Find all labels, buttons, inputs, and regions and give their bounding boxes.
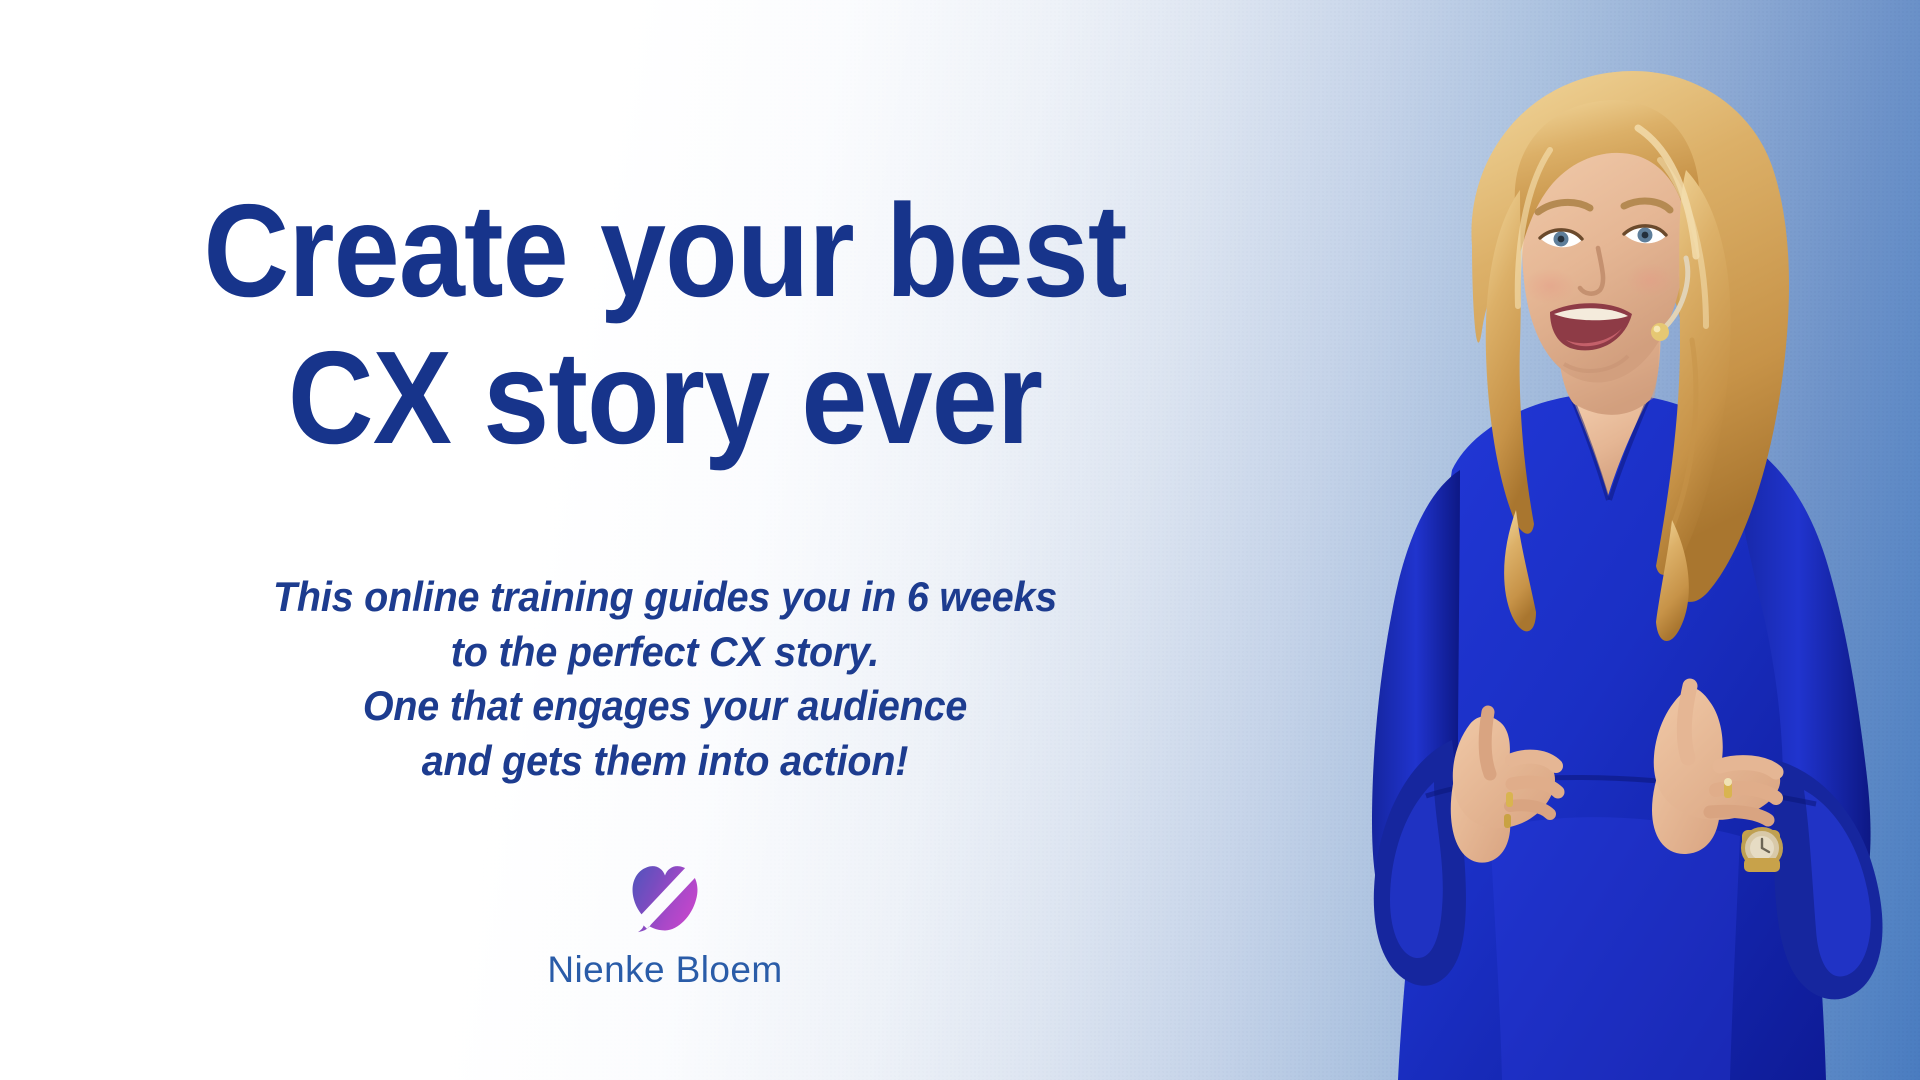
heart-speech-bubble-logo [624,855,706,937]
brand-lockup: Nienke Bloem [0,855,1330,988]
subtitle-text: This online training guides you in 6 wee… [40,570,1290,788]
page-title: Create your best CX story ever [67,178,1264,471]
text-content-column: Create your best CX story ever This onli… [0,0,1330,1080]
brand-name: Nienke Bloem [547,951,782,988]
slide-canvas: Create your best CX story ever This onli… [0,0,1920,1080]
